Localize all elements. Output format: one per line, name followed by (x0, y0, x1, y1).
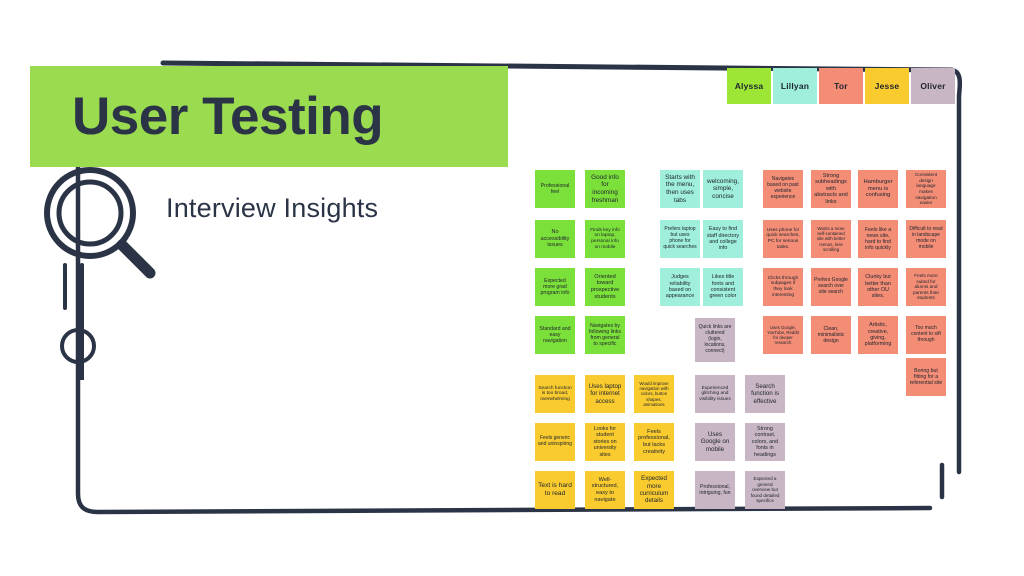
sticky-note-text: Consistent design language makes navigat… (909, 172, 943, 205)
sticky-note-text: Quick links are cluttered (login, locati… (698, 325, 732, 354)
sticky-note-text: Uses phone for quick searches, PC for se… (766, 228, 800, 251)
participant-tab-oliver[interactable]: Oliver (911, 68, 955, 104)
sticky-note-text: Judges reliability based on appearance (663, 274, 697, 300)
sticky-note-text: Strong contrast, colors, and fonts in he… (748, 426, 782, 458)
sticky-note[interactable]: Prefers Google search over site search (811, 268, 851, 306)
sticky-note[interactable]: Artistic, creative, giving, platforming (858, 316, 898, 354)
participant-tab-lillyan[interactable]: Lillyan (773, 68, 817, 104)
sticky-note-text: Would improve navigation with colors, bu… (637, 381, 671, 407)
participant-tab-label: Alyssa (735, 81, 764, 91)
sticky-note[interactable]: Search function is effective (745, 375, 785, 413)
sticky-note-text: Expected more curriculum details (637, 475, 671, 504)
sticky-note[interactable]: Prefers laptop but uses phone for quick … (660, 220, 700, 258)
sticky-note[interactable]: Uses laptop for internet access (585, 375, 625, 413)
sticky-note[interactable]: Likes title fonts and consistent green c… (703, 268, 743, 306)
sticky-note-text: welcoming, simple, concise (706, 178, 740, 201)
sticky-note[interactable]: Too much content to sift through (906, 316, 946, 354)
page-subtitle: Interview Insights (166, 193, 378, 224)
sticky-note-text: Finds key info on laptop, personal info … (588, 228, 622, 251)
sticky-note[interactable]: Good info for incoming freshman (585, 170, 625, 208)
sticky-note[interactable]: Navigates based on past website experien… (763, 170, 803, 208)
sticky-note[interactable]: Text is hard to read (535, 471, 575, 509)
participant-tab-label: Oliver (920, 81, 945, 91)
sticky-note[interactable]: Strong contrast, colors, and fonts in he… (745, 423, 785, 461)
sticky-note[interactable]: Feels like a news site, hard to find inf… (858, 220, 898, 258)
sticky-note-text: Feels generic and uninspiring (538, 436, 572, 448)
participant-tab-alyssa[interactable]: Alyssa (727, 68, 771, 104)
sticky-note-text: Expected a general overview but found de… (748, 476, 782, 503)
sticky-note[interactable]: Expected a general overview but found de… (745, 471, 785, 509)
sticky-note-text: Clunky but better than other OU sites. (861, 274, 895, 300)
sticky-note[interactable]: Experienced glitching and visibility iss… (695, 375, 735, 413)
sticky-note[interactable]: Clicks through subpages if they look int… (763, 268, 803, 306)
participant-tab-label: Jesse (875, 81, 900, 91)
sticky-note[interactable]: Starts with the menu, then uses tabs (660, 170, 700, 208)
sticky-note[interactable]: Hamburger menu is confusing (858, 170, 898, 208)
sticky-note[interactable]: Difficult to read in landscape mode on m… (906, 220, 946, 258)
sticky-note-text: Prefers laptop but uses phone for quick … (663, 227, 697, 251)
sticky-note[interactable]: Uses Google, YouTube, Reddit for deeper … (763, 316, 803, 354)
sticky-note[interactable]: Clunky but better than other OU sites. (858, 268, 898, 306)
sticky-note-text: Standard and easy navigation (538, 326, 572, 344)
sticky-note-text: Prefers Google search over site search (814, 278, 848, 296)
participant-tab-tor[interactable]: Tor (819, 68, 863, 104)
sticky-note-text: Easy to find staff directory and college… (706, 226, 740, 252)
sticky-note[interactable]: Well-structured, easy to navigate (585, 471, 625, 509)
sticky-note[interactable]: Feels generic and uninspiring (535, 423, 575, 461)
sticky-note[interactable]: Standard and easy navigation (535, 316, 575, 354)
sticky-note-text: Expected more grad program info (538, 278, 572, 296)
sticky-note[interactable]: Feels more suited for alumni and parents… (906, 268, 946, 306)
sticky-note-text: Feels professional, but lacks creativity (637, 429, 671, 455)
sticky-note[interactable]: Clean, minimalistic design (811, 316, 851, 354)
sticky-note[interactable]: Uses Google on mobile (695, 423, 735, 461)
sticky-note-text: Starts with the menu, then uses tabs (663, 174, 697, 204)
sticky-note[interactable]: Boring but fitting for a referential sit… (906, 358, 946, 396)
sticky-note-text: Boring but fitting for a referential sit… (909, 368, 943, 386)
sticky-note-text: Professional, intriguing, fun (698, 484, 732, 496)
sticky-note[interactable]: welcoming, simple, concise (703, 170, 743, 208)
sticky-note-text: Hamburger menu is confusing (861, 179, 895, 199)
participant-tab-label: Tor (834, 81, 848, 91)
sticky-note[interactable]: Consistent design language makes navigat… (906, 170, 946, 208)
sticky-note[interactable]: Quick links are cluttered (login, locati… (695, 318, 735, 362)
sticky-note-text: Oriented toward prospective students (588, 274, 622, 300)
sticky-note-text: Feels like a news site, hard to find inf… (861, 227, 895, 252)
sticky-note[interactable]: Uses phone for quick searches, PC for se… (763, 220, 803, 258)
sticky-note[interactable]: Professional feel (535, 170, 575, 208)
sticky-note-text: Uses Google, YouTube, Reddit for deeper … (766, 325, 800, 345)
sticky-note[interactable]: Search function is too broad, overwhelmi… (535, 375, 575, 413)
sticky-note-text: Navigates by following links from genera… (588, 323, 622, 348)
sticky-note-text: Search function is too broad, overwhelmi… (538, 386, 572, 403)
sticky-note[interactable]: Navigates by following links from genera… (585, 316, 625, 354)
sticky-note[interactable]: Strong subheadings with abstracts and li… (811, 170, 851, 208)
sticky-note-text: No accessibility issues (538, 229, 572, 248)
sticky-note-text: Good info for incoming freshman (588, 174, 622, 204)
sticky-note-text: Difficult to read in landscape mode on m… (909, 227, 943, 251)
page-title: User Testing (72, 85, 383, 149)
sticky-note[interactable]: Easy to find staff directory and college… (703, 220, 743, 258)
sticky-note-text: Artistic, creative, giving, platforming (861, 322, 895, 348)
sticky-note-text: Experienced glitching and visibility iss… (698, 386, 732, 403)
sticky-note-text: Uses laptop for internet access (588, 383, 622, 405)
magnifying-glass-icon (38, 150, 188, 380)
sticky-note[interactable]: Looks for student stories on university … (585, 423, 625, 461)
sticky-note[interactable]: Oriented toward prospective students (585, 268, 625, 306)
sticky-note[interactable]: Expected more curriculum details (634, 471, 674, 509)
sticky-note-text: Clicks through subpages if they look int… (766, 276, 800, 299)
sticky-note-text: Search function is effective (748, 383, 782, 405)
sticky-note[interactable]: Professional, intriguing, fun (695, 471, 735, 509)
sticky-note-text: Feels more suited for alumni and parents… (909, 273, 943, 301)
sticky-note-text: Strong subheadings with abstracts and li… (814, 173, 848, 206)
sticky-note-text: Navigates based on past website experien… (766, 177, 800, 201)
participant-tab-jesse[interactable]: Jesse (865, 68, 909, 104)
participant-tab-label: Lillyan (781, 81, 809, 91)
sticky-note[interactable]: Finds key info on laptop, personal info … (585, 220, 625, 258)
sticky-note[interactable]: Wants a more self-contained site with be… (811, 220, 851, 258)
sticky-note[interactable]: Judges reliability based on appearance (660, 268, 700, 306)
sticky-note[interactable]: Expected more grad program info (535, 268, 575, 306)
sticky-note-text: Looks for student stories on university … (588, 426, 622, 458)
sticky-note[interactable]: Would improve navigation with colors, bu… (634, 375, 674, 413)
sticky-note-text: Uses Google on mobile (698, 431, 732, 453)
sticky-note-text: Too much content to sift through (909, 326, 943, 344)
sticky-note-text: Well-structured, easy to navigate (588, 477, 622, 503)
sticky-note-text: Text is hard to read (538, 482, 572, 498)
sticky-note-text: Likes title fonts and consistent green c… (706, 274, 740, 300)
sticky-note[interactable]: Feels professional, but lacks creativity (634, 423, 674, 461)
slide-canvas: User Testing Interview Insights AlyssaLi… (0, 0, 1024, 576)
sticky-note-text: Wants a more self-contained site with be… (814, 226, 848, 252)
sticky-note-text: Professional feel (538, 183, 572, 195)
sticky-note-text: Clean, minimalistic design (814, 326, 848, 344)
sticky-note[interactable]: No accessibility issues (535, 220, 575, 258)
